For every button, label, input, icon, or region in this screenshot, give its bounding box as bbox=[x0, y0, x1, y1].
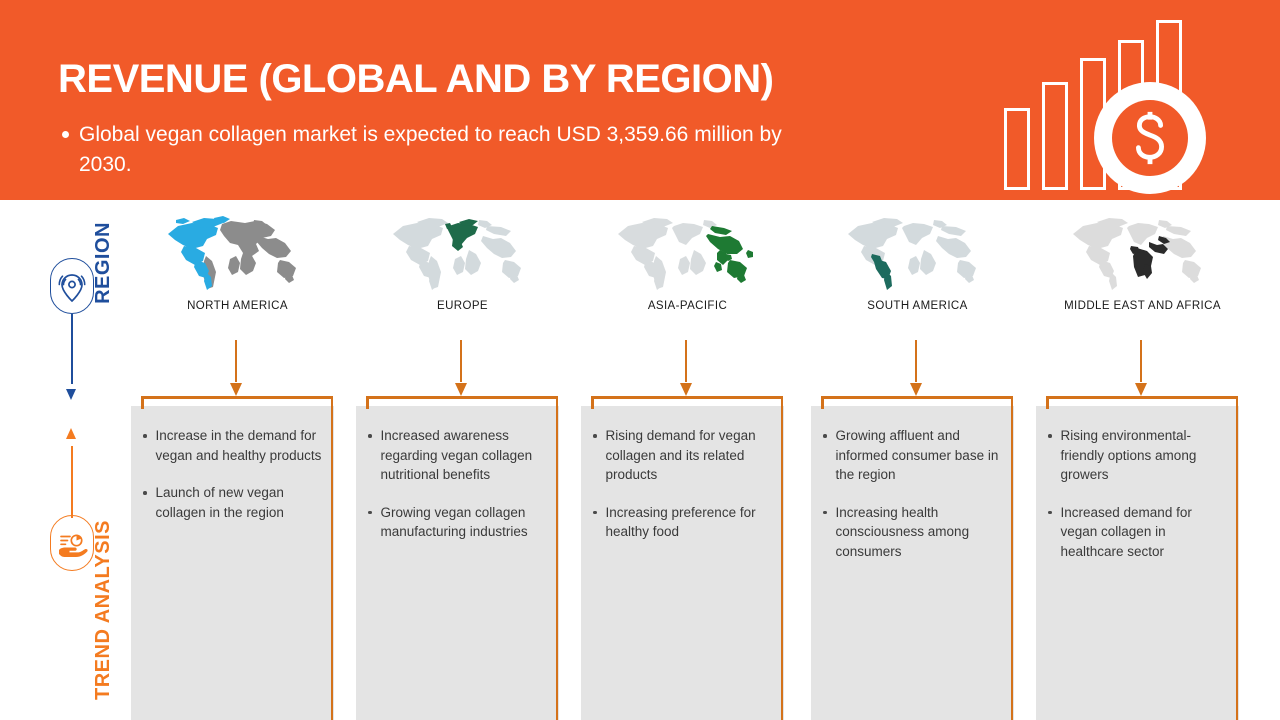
region-column-north-america: NORTH AMERICA Increase in the demand for… bbox=[125, 200, 350, 720]
bullet-text: Launch of new vegan collagen in the regi… bbox=[156, 483, 326, 522]
bullet-dot-icon bbox=[593, 511, 597, 515]
card-bracket-right bbox=[331, 396, 334, 720]
bullet-dot-icon bbox=[368, 434, 372, 438]
world-map-middle-east-africa-highlighted bbox=[1030, 212, 1255, 292]
card-bullet-list: Increased awareness regarding vegan coll… bbox=[368, 426, 550, 560]
region-column-middle-east-africa: MIDDLE EAST AND AFRICA Rising environmen… bbox=[1030, 200, 1255, 720]
connector-arrow-down-icon bbox=[910, 340, 922, 396]
region-label: NORTH AMERICA bbox=[125, 300, 350, 312]
region-label: EUROPE bbox=[350, 300, 575, 312]
card-bracket-right bbox=[1236, 396, 1239, 720]
bullet-text: Rising demand for vegan collagen and its… bbox=[606, 426, 776, 485]
list-item: Increasing health consciousness among co… bbox=[823, 503, 1005, 562]
bullet-text: Increasing health consciousness among co… bbox=[836, 503, 1006, 562]
region-column-asia-pacific: ASIA-PACIFIC Rising demand for vegan col… bbox=[575, 200, 800, 720]
trend-card: Rising demand for vegan collagen and its… bbox=[575, 396, 800, 720]
trend-card: Increased awareness regarding vegan coll… bbox=[350, 396, 575, 720]
card-bracket-top bbox=[591, 396, 783, 399]
list-item: Rising demand for vegan collagen and its… bbox=[593, 426, 775, 485]
bullet-text: Increased awareness regarding vegan coll… bbox=[381, 426, 551, 485]
rail-label-region: REGION bbox=[92, 222, 115, 304]
list-item: Increased demand for vegan collagen in h… bbox=[1048, 503, 1230, 562]
header-subtitle-row: Global vegan collagen market is expected… bbox=[62, 120, 822, 181]
card-bracket-left-stub bbox=[821, 396, 824, 409]
card-bracket-right bbox=[556, 396, 559, 720]
card-bracket-right bbox=[1011, 396, 1014, 720]
rail-label-trend-analysis: TREND ANALYSIS bbox=[92, 520, 115, 700]
card-bracket-left-stub bbox=[366, 396, 369, 409]
bullet-dot-icon bbox=[143, 491, 147, 495]
world-map-south-america-highlighted bbox=[805, 212, 1030, 292]
trend-icon-badge bbox=[50, 515, 94, 571]
bullet-text: Rising environmental-friendly options am… bbox=[1061, 426, 1231, 485]
bullet-dot-icon bbox=[1048, 434, 1052, 438]
bullet-dot-icon bbox=[593, 434, 597, 438]
world-map-asia-pacific-highlighted bbox=[575, 212, 800, 292]
card-bracket-top bbox=[821, 396, 1013, 399]
card-bracket-top bbox=[1046, 396, 1238, 399]
bullet-dot-icon bbox=[823, 511, 827, 515]
connector-arrow-down-icon bbox=[680, 340, 692, 396]
card-bullet-list: Rising demand for vegan collagen and its… bbox=[593, 426, 775, 560]
bullet-text: Increase in the demand for vegan and hea… bbox=[156, 426, 326, 465]
card-bracket-left-stub bbox=[1046, 396, 1049, 409]
region-label: MIDDLE EAST AND AFRICA bbox=[1030, 300, 1255, 312]
bullet-dot-icon bbox=[1048, 511, 1052, 515]
trend-card: Growing affluent and informed consumer b… bbox=[805, 396, 1030, 720]
card-bullet-list: Growing affluent and informed consumer b… bbox=[823, 426, 1005, 579]
location-pin-signal-icon bbox=[51, 259, 93, 313]
list-item: Launch of new vegan collagen in the regi… bbox=[143, 483, 325, 522]
header-subtitle: Global vegan collagen market is expected… bbox=[79, 120, 822, 181]
region-label: SOUTH AMERICA bbox=[805, 300, 1030, 312]
bullet-dot-icon bbox=[62, 131, 69, 138]
connector-arrow-down-icon bbox=[230, 340, 242, 396]
card-bracket-left-stub bbox=[591, 396, 594, 409]
bullet-text: Increasing preference for healthy food bbox=[606, 503, 776, 542]
dollar-sign-icon bbox=[1129, 110, 1171, 166]
list-item: Increase in the demand for vegan and hea… bbox=[143, 426, 325, 465]
hand-holding-coin-icon bbox=[51, 516, 93, 570]
region-column-europe: EUROPE Increased awareness regarding veg… bbox=[350, 200, 575, 720]
trend-card: Rising environmental-friendly options am… bbox=[1030, 396, 1255, 720]
region-columns: NORTH AMERICA Increase in the demand for… bbox=[125, 200, 1280, 720]
card-bracket-right bbox=[781, 396, 784, 720]
region-label: ASIA-PACIFIC bbox=[575, 300, 800, 312]
region-arrow-down-icon bbox=[70, 314, 74, 400]
card-bullet-list: Rising environmental-friendly options am… bbox=[1048, 426, 1230, 579]
list-item: Growing vegan collagen manufacturing ind… bbox=[368, 503, 550, 542]
bullet-text: Growing affluent and informed consumer b… bbox=[836, 426, 1006, 485]
card-bullet-list: Increase in the demand for vegan and hea… bbox=[143, 426, 325, 540]
card-bracket-left-stub bbox=[141, 396, 144, 409]
bar-chart-dollar-coin-icon bbox=[1004, 20, 1204, 190]
list-item: Growing affluent and informed consumer b… bbox=[823, 426, 1005, 485]
connector-arrow-down-icon bbox=[1135, 340, 1147, 396]
page-title: REVENUE (GLOBAL AND BY REGION) bbox=[58, 57, 773, 102]
list-item: Rising environmental-friendly options am… bbox=[1048, 426, 1230, 485]
list-item: Increasing preference for healthy food bbox=[593, 503, 775, 542]
bullet-text: Growing vegan collagen manufacturing ind… bbox=[381, 503, 551, 542]
header-banner: REVENUE (GLOBAL AND BY REGION) Global ve… bbox=[0, 0, 1280, 200]
list-item: Increased awareness regarding vegan coll… bbox=[368, 426, 550, 485]
card-bracket-top bbox=[366, 396, 558, 399]
bullet-dot-icon bbox=[368, 511, 372, 515]
world-map-europe-highlighted bbox=[350, 212, 575, 292]
bullet-dot-icon bbox=[143, 434, 147, 438]
trend-arrow-up-icon bbox=[70, 428, 74, 518]
world-map-north-america-highlighted bbox=[125, 212, 350, 292]
region-column-south-america: SOUTH AMERICA Growing affluent and infor… bbox=[805, 200, 1030, 720]
bullet-text: Increased demand for vegan collagen in h… bbox=[1061, 503, 1231, 562]
connector-arrow-down-icon bbox=[455, 340, 467, 396]
trend-card: Increase in the demand for vegan and hea… bbox=[125, 396, 350, 720]
left-rail: REGION TREND ANALYSIS bbox=[0, 200, 130, 720]
region-icon-badge bbox=[50, 258, 94, 314]
bullet-dot-icon bbox=[823, 434, 827, 438]
card-bracket-top bbox=[141, 396, 333, 399]
